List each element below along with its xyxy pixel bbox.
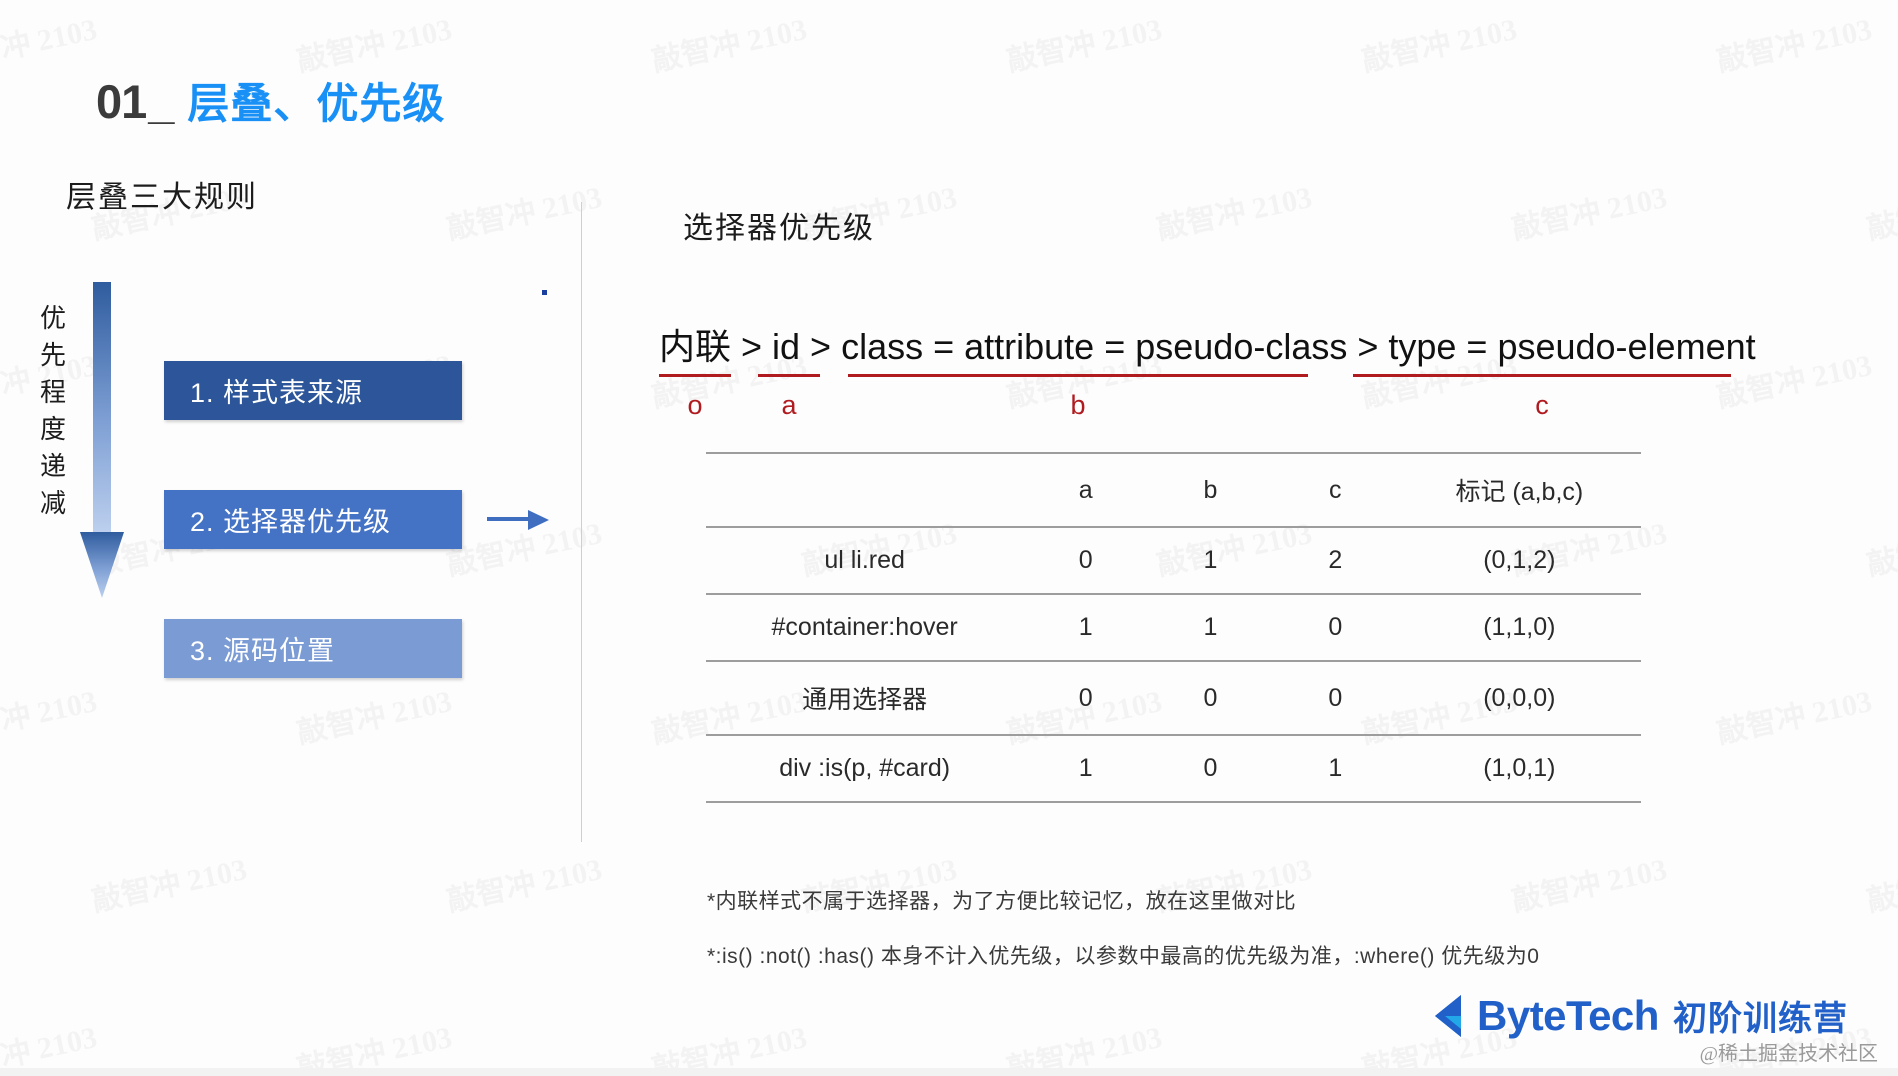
watermark-text: 敲智冲 2103 — [0, 4, 100, 80]
cell-selector: #container:hover — [706, 594, 1023, 661]
cell-a: 0 — [1023, 661, 1148, 735]
watermark-text: 敲智冲 2103 — [292, 4, 455, 80]
watermark-text: 敲智冲 2103 — [1507, 844, 1670, 920]
step-item-1[interactable]: 1. 样式表来源 — [164, 361, 462, 420]
col-header-mark: 标记 (a,b,c) — [1398, 453, 1641, 527]
cell-a: 0 — [1023, 527, 1148, 594]
watermark-text: 敲智冲 2103 — [1862, 508, 1898, 584]
segment-underline-a — [758, 374, 820, 377]
table-header: a b c 标记 (a,b,c) — [706, 453, 1641, 527]
footnote-2: *:is() :not() :has() 本身不计入优先级，以参数中最高的优先级… — [707, 940, 1539, 970]
cell-b: 0 — [1148, 661, 1273, 735]
cell-selector: ul li.red — [706, 527, 1023, 594]
vlabel-char: 减 — [36, 485, 70, 522]
vlabel-char: 递 — [36, 448, 70, 485]
watermark-text: 敲智冲 2103 — [1002, 1012, 1165, 1076]
col-header-b: b — [1148, 453, 1273, 527]
cell-mark: (0,1,2) — [1398, 527, 1641, 594]
cell-mark: (0,0,0) — [1398, 661, 1641, 735]
cell-c: 0 — [1273, 661, 1398, 735]
right-panel-heading: 选择器优先级 — [683, 203, 875, 247]
watermark-text: 敲智冲 2103 — [647, 1012, 810, 1076]
watermark-text: 敲智冲 2103 — [1357, 4, 1520, 80]
watermark-text: 敲智冲 2103 — [1862, 172, 1898, 248]
table-row: 通用选择器 0 0 0 (0,0,0) — [706, 661, 1641, 735]
watermark-text: 敲智冲 2103 — [0, 1012, 100, 1076]
watermark-text: 敲智冲 2103 — [1712, 4, 1875, 80]
watermark-text: 敲智冲 2103 — [1712, 676, 1875, 752]
cell-mark: (1,0,1) — [1398, 735, 1641, 802]
bottom-strip — [0, 1068, 1898, 1076]
cell-b: 0 — [1148, 735, 1273, 802]
step-item-1-label: 1. 样式表来源 — [190, 371, 363, 410]
panel-divider — [581, 202, 582, 842]
brand-logo: ByteTech 初阶训练营 — [1421, 991, 1848, 1040]
col-header-selector — [706, 453, 1023, 527]
vlabel-char: 程 — [36, 374, 70, 411]
specificity-formula: 内联 > id > class = attribute = pseudo-cla… — [659, 318, 1756, 370]
specificity-table: a b c 标记 (a,b,c) ul li.red 0 1 2 (0,1,2)… — [706, 452, 1641, 803]
credit-watermark: @稀土掘金技术社区 — [1700, 1037, 1878, 1066]
title-underscore: _ — [148, 74, 174, 129]
watermark-text: 敲智冲 2103 — [292, 676, 455, 752]
segment-underline-c — [1353, 374, 1731, 377]
watermark-text: 敲智冲 2103 — [647, 4, 810, 80]
bytetech-chevron-icon — [1421, 993, 1463, 1039]
logo-subtitle: 初阶训练营 — [1673, 991, 1848, 1040]
cell-c: 2 — [1273, 527, 1398, 594]
step-item-2[interactable]: 2. 选择器优先级 — [164, 490, 462, 549]
title-text: 层叠、优先级 — [187, 70, 445, 131]
watermark-text: 敲智冲 2103 — [1507, 172, 1670, 248]
table-row: #container:hover 1 1 0 (1,1,0) — [706, 594, 1641, 661]
page-title: 01 _ 层叠、优先级 — [96, 70, 445, 131]
col-header-a: a — [1023, 453, 1148, 527]
segment-label-o: o — [659, 390, 731, 421]
segment-label-a: a — [758, 390, 820, 421]
left-panel-heading: 层叠三大规则 — [66, 172, 258, 216]
table-body: ul li.red 0 1 2 (0,1,2) #container:hover… — [706, 527, 1641, 802]
cell-b: 1 — [1148, 527, 1273, 594]
col-header-c: c — [1273, 453, 1398, 527]
watermark-text: 敲智冲 2103 — [87, 844, 250, 920]
step-item-2-label: 2. 选择器优先级 — [190, 500, 391, 539]
cell-selector: 通用选择器 — [706, 661, 1023, 735]
watermark-text: 敲智冲 2103 — [292, 1012, 455, 1076]
watermark-text: 敲智冲 2103 — [1002, 4, 1165, 80]
priority-vertical-label: 优 先 程 度 递 减 — [36, 300, 70, 521]
step-item-3-label: 3. 源码位置 — [190, 629, 335, 668]
cell-selector: div :is(p, #card) — [706, 735, 1023, 802]
segment-underline-b — [848, 374, 1308, 377]
vlabel-char: 优 — [36, 300, 70, 337]
decorative-dot — [542, 290, 547, 295]
segment-label-b: b — [848, 390, 1308, 421]
cell-a: 1 — [1023, 594, 1148, 661]
segment-underline-o — [659, 374, 731, 377]
title-number: 01 — [96, 74, 146, 129]
cell-a: 1 — [1023, 735, 1148, 802]
step-item-3[interactable]: 3. 源码位置 — [164, 619, 462, 678]
watermark-text: 敲智冲 2103 — [1152, 172, 1315, 248]
cell-c: 0 — [1273, 594, 1398, 661]
segment-label-c: c — [1353, 390, 1731, 421]
watermark-text: 敲智冲 2103 — [0, 676, 100, 752]
cell-b: 1 — [1148, 594, 1273, 661]
cell-mark: (1,1,0) — [1398, 594, 1641, 661]
table-header-row: a b c 标记 (a,b,c) — [706, 453, 1641, 527]
cell-c: 1 — [1273, 735, 1398, 802]
logo-name: ByteTech — [1477, 992, 1659, 1040]
right-arrow-icon — [487, 508, 549, 532]
vlabel-char: 度 — [36, 411, 70, 448]
footnote-1: *内联样式不属于选择器，为了方便比较记忆，放在这里做对比 — [707, 885, 1296, 915]
slide-root: 敲智冲 2103敲智冲 2103敲智冲 2103敲智冲 2103敲智冲 2103… — [0, 0, 1898, 1076]
table-row: ul li.red 0 1 2 (0,1,2) — [706, 527, 1641, 594]
watermark-text: 敲智冲 2103 — [442, 844, 605, 920]
down-arrow-icon — [79, 282, 125, 600]
vlabel-char: 先 — [36, 337, 70, 374]
watermark-text: 敲智冲 2103 — [1862, 844, 1898, 920]
table-row: div :is(p, #card) 1 0 1 (1,0,1) — [706, 735, 1641, 802]
